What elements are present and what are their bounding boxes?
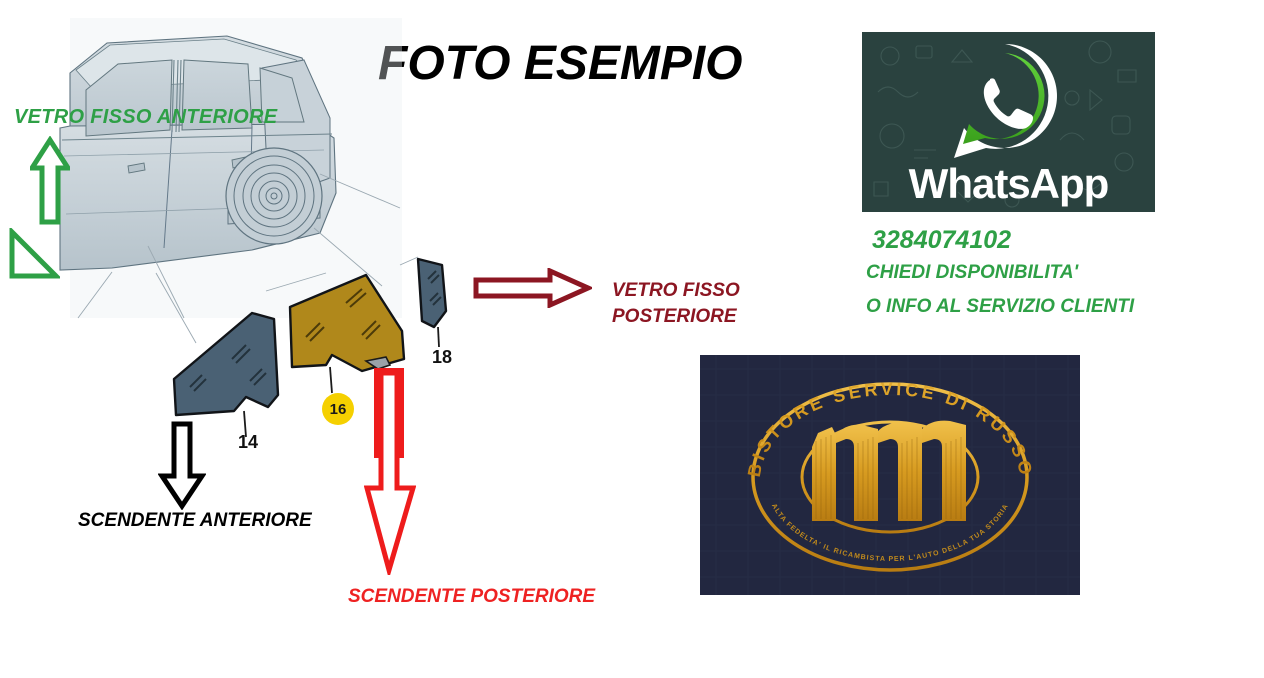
shop-logo: MRICAMBISTORE SERVICE DI RUSSO MARCO ALT… [700,355,1080,595]
arrow-right-darkred-icon [472,268,592,308]
arrow-down-black-icon [158,420,206,510]
label-scendente-posteriore: SCENDENTE POSTERIORE [348,586,595,608]
label-vetro-fisso-anteriore: VETRO FISSO ANTERIORE [14,106,277,129]
arrow-up-green-icon [30,136,70,226]
part-18-shape [418,259,446,347]
arrow-down-red-icon [364,370,416,575]
page-title: FOTO ESEMPIO [378,36,798,91]
whatsapp-wordmark: WhatsApp [862,160,1155,208]
whatsapp-icon [940,38,1070,166]
contact-customer-service-line: O INFO AL SERVIZIO CLIENTI [866,296,1134,318]
label-vetro-fisso-posteriore-line2: POSTERIORE [612,304,740,330]
label-vetro-fisso-posteriore-line1: VETRO FISSO [612,278,740,304]
label-vetro-fisso-posteriore: VETRO FISSO POSTERIORE [612,278,740,330]
part-number-16-badge: 16 [322,393,354,425]
contact-phone-number: 3284074102 [872,226,1011,255]
triangle-green-icon [8,228,60,280]
label-scendente-anteriore: SCENDENTE ANTERIORE [78,510,312,532]
shop-logo-graphic: MRICAMBISTORE SERVICE DI RUSSO MARCO ALT… [700,355,1080,595]
part-number-18: 18 [432,347,452,368]
part-number-14: 14 [238,432,258,453]
poster-canvas: FOTO ESEMPIO [0,0,1264,678]
contact-availability-line: CHIEDI DISPONIBILITA' [866,262,1078,284]
whatsapp-banner: WhatsApp [862,32,1155,212]
